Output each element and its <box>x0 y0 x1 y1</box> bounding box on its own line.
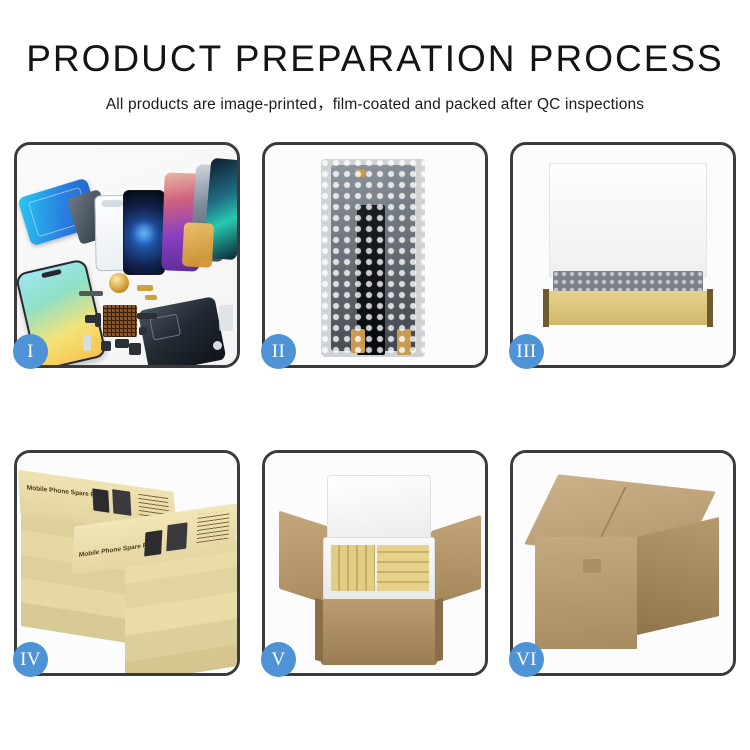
step-badge-5: V <box>261 642 296 677</box>
phone-screens-and-spare-parts-photo <box>17 145 237 365</box>
yellow-boxes-left-group <box>331 545 375 591</box>
foam-lid-image <box>327 475 431 545</box>
spare-part-image <box>137 313 157 319</box>
process-step-card-4[interactable]: Mobile Phone Spare Parts Mobile Phone Sp… <box>14 450 240 676</box>
spare-part-image <box>79 291 103 296</box>
step-badge-4: IV <box>13 642 48 677</box>
gold-phone-image <box>182 222 214 268</box>
carton-side-panel <box>315 598 323 662</box>
box-phone-thumbnail <box>166 522 187 551</box>
process-step-card-1[interactable]: I <box>14 142 240 368</box>
carton-body-image <box>321 599 437 665</box>
step-badge-1: I <box>13 334 48 369</box>
box-spec-text-block <box>196 510 229 543</box>
logic-board-chip-image <box>103 305 137 337</box>
spare-part-image <box>83 335 91 351</box>
page-title: PRODUCT PREPARATION PROCESS <box>0 38 750 80</box>
bubble-wrap-padding-image <box>553 271 703 293</box>
box-corner-shadow <box>543 289 549 327</box>
spare-part-image <box>115 339 129 348</box>
process-step-card-6[interactable]: VI <box>510 450 736 676</box>
spare-part-image <box>139 327 147 335</box>
phone-back-housing-image <box>138 296 227 365</box>
lcd-display-image <box>123 190 165 275</box>
spare-part-image <box>101 341 111 351</box>
spare-part-image <box>137 285 153 291</box>
box-corner-shadow <box>707 289 713 327</box>
process-step-card-3[interactable]: III <box>510 142 736 368</box>
spare-part-image <box>129 343 141 355</box>
open-kraft-box-with-bubble-wrap-photo <box>513 145 733 365</box>
box-phone-thumbnail <box>92 488 109 512</box>
wrapped-screen-image <box>321 159 425 357</box>
spare-part-image <box>145 295 157 300</box>
screen-wrapped-in-bubble-wrap-photo <box>265 145 485 365</box>
page-subtitle: All products are image-printed，film-coat… <box>0 92 750 114</box>
carton-tape-patch <box>585 631 603 649</box>
carton-front-face <box>535 537 637 649</box>
tool-image <box>219 305 233 331</box>
process-step-card-2[interactable]: II <box>262 142 488 368</box>
carton-flap-right <box>431 515 481 605</box>
kraft-box-body-image <box>545 291 711 325</box>
box-lid-image <box>549 163 707 277</box>
carton-with-foam-and-boxes-photo <box>265 453 485 673</box>
carton-right-face <box>637 517 719 635</box>
process-step-card-5[interactable]: V <box>262 450 488 676</box>
page-header: PRODUCT PREPARATION PROCESS All products… <box>0 0 750 114</box>
stacked-spare-parts-boxes-photo: Mobile Phone Spare Parts Mobile Phone Sp… <box>17 453 237 673</box>
sealed-shipping-carton-photo <box>513 453 733 673</box>
process-step-grid: I II III <box>14 142 736 676</box>
step-badge-6: VI <box>509 642 544 677</box>
copper-coil-part-image <box>109 273 129 293</box>
spare-part-image <box>85 315 97 323</box>
box-phone-thumbnail <box>112 489 131 516</box>
carton-tape-patch <box>583 559 601 573</box>
carton-side-panel <box>435 598 443 662</box>
spare-part-image <box>213 341 222 350</box>
yellow-boxes-right-group <box>377 545 429 591</box>
step-badge-2: II <box>261 334 296 369</box>
step-badge-3: III <box>509 334 544 369</box>
bubble-wrap-texture <box>321 159 425 357</box>
box-phone-thumbnail <box>144 530 162 557</box>
